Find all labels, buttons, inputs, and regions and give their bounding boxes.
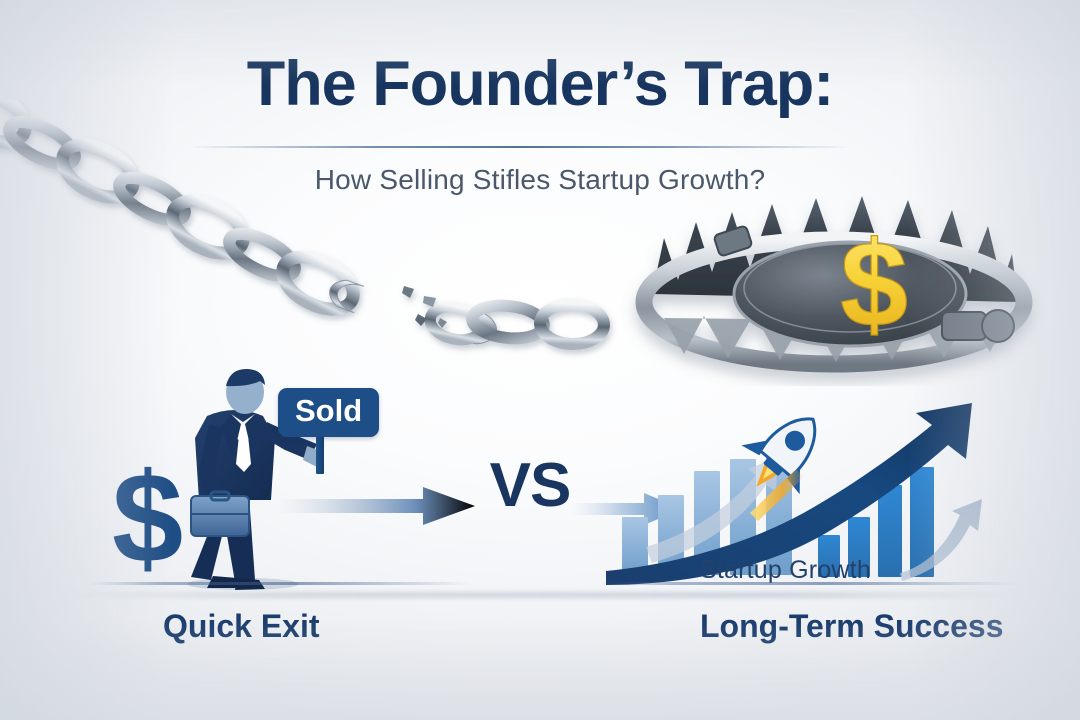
trap-dollar-symbol: $ bbox=[840, 216, 908, 352]
sold-sign: Sold bbox=[278, 388, 379, 437]
ground-shadow bbox=[60, 592, 1020, 598]
title-divider bbox=[190, 146, 850, 148]
page-subtitle: How Selling Stifles Startup Growth? bbox=[0, 164, 1080, 196]
arrow-quick-exit-icon bbox=[275, 486, 480, 526]
broken-chain-icon bbox=[0, 100, 700, 360]
title-block: The Founder’s Trap: How Selling Stifles … bbox=[0, 52, 1080, 116]
caption-quick-exit: Quick Exit bbox=[163, 608, 320, 645]
ground-line-right bbox=[600, 582, 1020, 585]
caption-long-term: Long-Term Success bbox=[700, 608, 1003, 645]
page-title: The Founder’s Trap: bbox=[0, 52, 1080, 116]
dollar-symbol-left: $ bbox=[112, 455, 183, 583]
briefcase-icon bbox=[191, 496, 249, 536]
infographic-poster: $ The Founder’s Trap: How Selling Stifle… bbox=[0, 0, 1080, 720]
bear-trap-icon: $ bbox=[612, 176, 1062, 386]
growth-chart-label: Startup Growth bbox=[700, 556, 871, 585]
ground-line-left bbox=[90, 582, 470, 585]
